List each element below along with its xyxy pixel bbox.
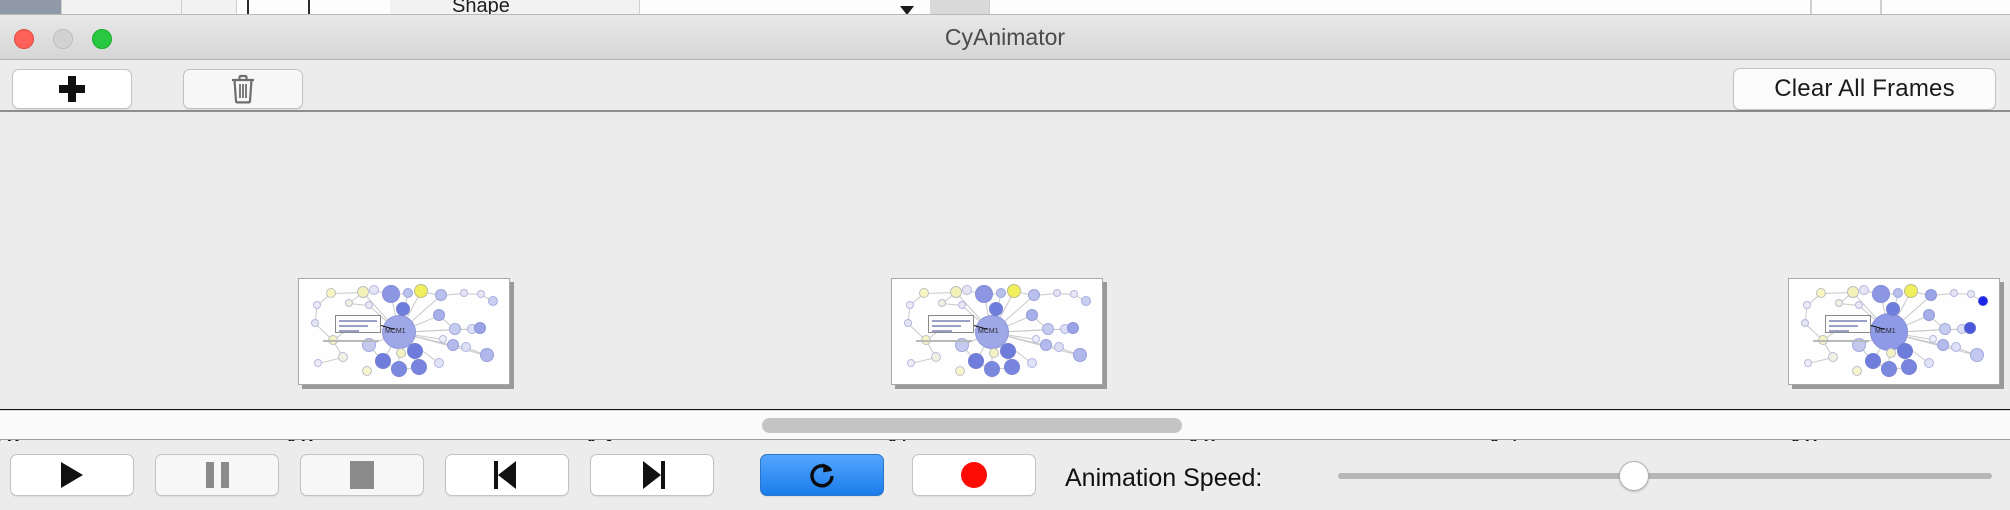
network-node (1897, 343, 1913, 359)
network-node (906, 301, 914, 309)
network-node (1865, 353, 1881, 369)
network-view: MCM1 (303, 283, 505, 380)
network-node (958, 301, 966, 309)
timeline-horizontal-scrollbar[interactable] (0, 410, 2010, 440)
network-node (938, 299, 946, 307)
network-node (396, 348, 406, 358)
network-view: MCM1 (896, 283, 1098, 380)
background-divider (1810, 0, 1812, 15)
network-node (1801, 319, 1809, 327)
add-frame-button[interactable] (12, 69, 132, 109)
background-divider (308, 0, 310, 15)
network-node (396, 302, 410, 316)
animation-speed-label: Animation Speed: (1065, 464, 1262, 493)
toolbar: Clear All Frames (0, 60, 2010, 112)
annotation-text-line (932, 320, 970, 322)
slider-track (1338, 473, 1992, 479)
network-node (1042, 323, 1054, 335)
background-divider (1880, 0, 1882, 15)
network-node (1859, 285, 1869, 295)
network-node (345, 299, 353, 307)
network-node (1054, 342, 1064, 352)
network-node (460, 289, 468, 297)
network-node (449, 323, 461, 335)
network-node (1893, 288, 1903, 298)
network-node (434, 358, 444, 368)
network-node (1026, 309, 1038, 321)
clear-all-frames-label: Clear All Frames (1774, 75, 1955, 103)
network-node (1053, 289, 1061, 297)
network-node (391, 361, 407, 377)
network-node (1929, 335, 1937, 343)
annotation-text-line (932, 330, 952, 332)
network-node (326, 288, 336, 298)
network-node (447, 339, 459, 351)
play-button[interactable] (10, 454, 134, 496)
network-node (435, 289, 447, 301)
background-tab (182, 0, 237, 15)
annotation-text-line (1829, 320, 1867, 322)
network-node (1067, 322, 1079, 334)
clear-all-frames-button[interactable]: Clear All Frames (1733, 68, 1996, 110)
network-node (1855, 301, 1863, 309)
network-node (1925, 289, 1937, 301)
cyanimator-window: Shape CyAnimator Clear All Frames (0, 0, 2010, 510)
network-node (1028, 289, 1040, 301)
window-title: CyAnimator (0, 15, 2010, 60)
timeline-frame[interactable]: MCM1 (1788, 278, 2000, 385)
network-node (474, 322, 486, 334)
network-node (931, 352, 941, 362)
network-node (357, 286, 369, 298)
network-node (313, 301, 321, 309)
annotation-text-line (339, 330, 359, 332)
network-node (1970, 348, 1984, 362)
network-node (919, 288, 929, 298)
slider-knob[interactable] (1619, 461, 1649, 491)
loop-button[interactable] (760, 454, 884, 496)
network-node (314, 359, 322, 367)
network-node (1804, 359, 1812, 367)
pause-icon (206, 462, 229, 488)
background-tab (62, 0, 182, 15)
annotation-text-line (1829, 330, 1849, 332)
network-node (1964, 322, 1976, 334)
network-node (1886, 348, 1896, 358)
background-tab (0, 0, 62, 15)
network-node (1073, 348, 1087, 362)
network-node (1951, 342, 1961, 352)
loop-icon (807, 460, 837, 490)
network-node (1027, 358, 1037, 368)
network-node (968, 353, 984, 369)
network-node (480, 348, 494, 362)
network-node (1000, 343, 1016, 359)
network-node (433, 309, 445, 321)
network-node (984, 361, 1000, 377)
network-node (989, 302, 1003, 316)
pause-button[interactable] (155, 454, 279, 496)
network-node (962, 285, 972, 295)
record-button[interactable] (912, 454, 1036, 496)
hub-node-label: MCM1 (978, 328, 999, 335)
network-node (1081, 296, 1091, 306)
network-node (375, 353, 391, 369)
network-view: MCM1 (1793, 283, 1995, 380)
network-node (1828, 352, 1838, 362)
network-node (1967, 290, 1975, 298)
network-caption-text (916, 340, 972, 342)
play-icon (61, 462, 83, 488)
network-node (461, 342, 471, 352)
annotation-text-line (339, 325, 368, 327)
hub-node-label: MCM1 (1875, 328, 1896, 335)
delete-frame-button[interactable] (183, 69, 303, 109)
stop-icon (350, 461, 374, 489)
network-node (1007, 284, 1021, 298)
network-node (1070, 290, 1078, 298)
title-bar[interactable]: CyAnimator (0, 15, 2010, 60)
hub-node-label: MCM1 (385, 328, 406, 335)
playback-control-bar: Animation Speed: (0, 441, 2010, 510)
network-node (1852, 366, 1862, 376)
annotation-text-line (932, 325, 961, 327)
timeline-frame[interactable]: MCM1 (298, 278, 510, 385)
network-node (365, 301, 373, 309)
background-tab (930, 0, 990, 15)
network-node (1847, 286, 1859, 298)
network-node (975, 285, 993, 303)
scrollbar-thumb[interactable] (762, 418, 1182, 433)
network-node (1937, 339, 1949, 351)
network-caption-text (323, 340, 379, 342)
network-node (311, 319, 319, 327)
network-node (1803, 301, 1811, 309)
network-node (1032, 335, 1040, 343)
network-node (338, 352, 348, 362)
skip-next-button[interactable] (590, 454, 714, 496)
network-node (403, 288, 413, 298)
skip-previous-icon (494, 461, 520, 489)
network-annotation-box (335, 315, 381, 333)
network-node (996, 288, 1006, 298)
network-node (1901, 359, 1917, 375)
network-node (477, 290, 485, 298)
animation-speed-slider[interactable] (1338, 454, 1992, 496)
network-annotation-box (928, 315, 974, 333)
trash-icon (230, 74, 256, 104)
annotation-text-line (1829, 325, 1858, 327)
network-node (904, 319, 912, 327)
network-node (1872, 285, 1890, 303)
network-node (1004, 359, 1020, 375)
network-node (369, 285, 379, 295)
network-node (950, 286, 962, 298)
background-caret-icon (900, 6, 914, 15)
background-shape-label: Shape (452, 0, 510, 15)
stop-button[interactable] (300, 454, 424, 496)
network-node (1923, 309, 1935, 321)
network-node (1040, 339, 1052, 351)
network-node (1978, 296, 1988, 306)
timeline-track[interactable]: MCM1MCM1MCM1 (0, 114, 2010, 410)
network-node (488, 296, 498, 306)
network-node (1939, 323, 1951, 335)
network-node (362, 366, 372, 376)
timeline-frame[interactable]: MCM1 (891, 278, 1103, 385)
network-node (1816, 288, 1826, 298)
network-node (955, 366, 965, 376)
network-node (1835, 299, 1843, 307)
network-node (439, 335, 447, 343)
network-node (907, 359, 915, 367)
background-tab (390, 0, 640, 15)
background-divider (247, 0, 249, 15)
skip-previous-button[interactable] (445, 454, 569, 496)
network-node (1886, 302, 1900, 316)
network-node (1924, 358, 1934, 368)
network-node (407, 343, 423, 359)
network-node (1904, 284, 1918, 298)
annotation-text-line (339, 320, 377, 322)
network-node (382, 285, 400, 303)
network-caption-text (1813, 340, 1869, 342)
network-annotation-box (1825, 315, 1871, 333)
network-node (411, 359, 427, 375)
record-icon (961, 462, 987, 488)
skip-next-icon (639, 461, 665, 489)
network-node (414, 284, 428, 298)
network-node (989, 348, 999, 358)
plus-icon (59, 76, 85, 102)
network-node (1881, 361, 1897, 377)
background-window-strip: Shape (0, 0, 2010, 15)
network-node (1950, 289, 1958, 297)
